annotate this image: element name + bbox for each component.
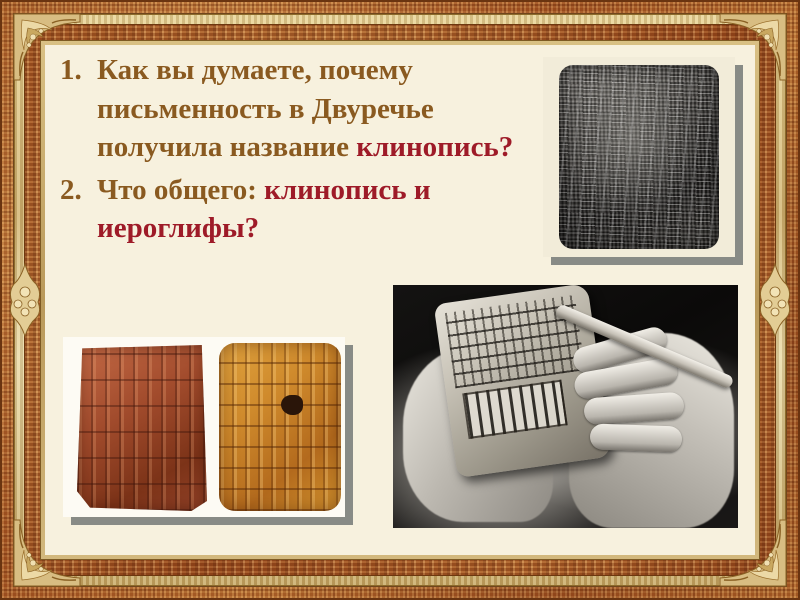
presentation-slide: 1. Как вы думаете, почему письменность в…	[0, 0, 800, 600]
photo-shadow-bottom	[71, 517, 353, 525]
photo-shadow-right	[735, 65, 743, 265]
cuneiform-tablets-pair-photo	[63, 337, 345, 517]
question-1-highlight: клинопись?	[356, 131, 513, 163]
tablet-relief-panel	[462, 380, 567, 439]
finger-4	[590, 423, 683, 452]
question-item-1: 1. Как вы думаете, почему письменность в…	[57, 51, 527, 167]
question-list: 1. Как вы думаете, почему письменность в…	[57, 51, 527, 248]
question-number-1: 1.	[57, 51, 97, 90]
photo-shadow-right	[345, 345, 353, 525]
question-number-2: 2.	[57, 171, 97, 210]
photo-shadow-bottom	[551, 257, 743, 265]
question-text-2: Что общего: клинопись и иероглифы?	[97, 171, 527, 248]
scribe-hands-photo	[393, 285, 738, 528]
clay-tablet-orange	[219, 343, 341, 511]
cuneiform-tablet-dark-photo	[543, 57, 735, 257]
question-text-1: Как вы думаете, почему письменность в Дв…	[97, 51, 527, 167]
question-2-plain: Что общего:	[97, 174, 264, 206]
clay-tablet-dark	[559, 65, 719, 249]
question-item-2: 2. Что общего: клинопись и иероглифы?	[57, 171, 527, 248]
clay-tablet-red	[77, 345, 207, 511]
slide-content-area: 1. Как вы думаете, почему письменность в…	[45, 45, 755, 555]
